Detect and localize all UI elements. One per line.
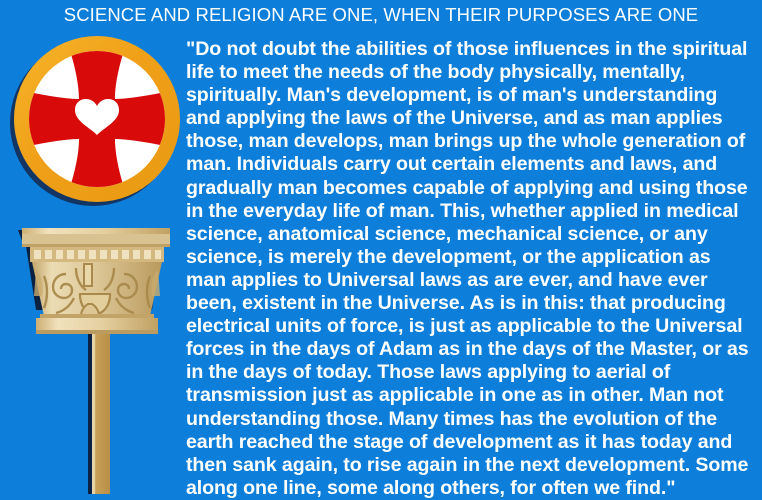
emblem-white-field [29,51,165,187]
quote-text-block: "Do not doubt the abilities of those inf… [186,38,752,500]
poster-canvas: SCIENCE AND RELIGION ARE ONE, WHEN THEIR… [0,0,762,494]
column-capital-icon [14,218,174,494]
quote-paragraph: "Do not doubt the abilities of those inf… [186,38,752,500]
cross-pattee-with-heart-emblem [14,36,180,202]
page-title: SCIENCE AND RELIGION ARE ONE, WHEN THEIR… [0,4,762,26]
corinthian-column-pedestal [14,218,174,494]
cross-pattee-icon [29,51,165,187]
